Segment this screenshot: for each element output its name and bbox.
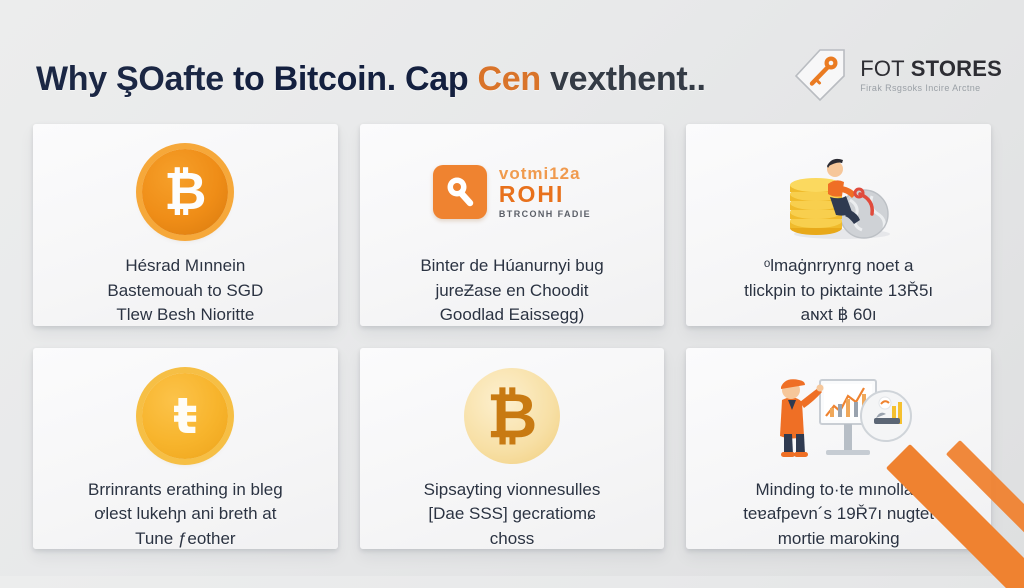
title-part-2: to Bitcoin. Cap <box>224 60 478 98</box>
card-2[interactable]: votmi12a ROHI BTRCONH FADIE Binter de Hú… <box>360 124 665 326</box>
card-6-line-1: Minding to·te mınollait <box>700 478 977 503</box>
bitcoin-symbol-pale-icon: ₿ <box>464 368 560 464</box>
card-2-brand-line-1: votmi12a <box>499 165 591 182</box>
card-4-line-2: ơlest lukehɲ ani breth at <box>47 502 324 527</box>
brand-name-bold: STORES <box>911 56 1002 81</box>
card-5-line-1: Sipsayting vionnesulles <box>374 478 651 503</box>
card-1-visual: ₿ <box>47 140 324 244</box>
card-2-brand-line-2: ROHI <box>499 183 591 206</box>
card-6-line-2: teɐafpevn´s 19Ř7ı nuɡtet <box>700 502 977 527</box>
search-magnifier-icon <box>433 165 487 219</box>
card-1-line-3: Tlew Besh Nioritte <box>47 303 324 325</box>
brand-name: FOT STORES <box>860 57 1002 80</box>
card-2-text: Binter de Húanurnуi bug jureƵase en Choo… <box>374 254 651 326</box>
card-3[interactable]: ᵒlmaġnrrynгg noet a tlickpin to piĸtaint… <box>686 124 991 326</box>
card-5-visual: ₿ <box>374 364 651 468</box>
bitcoin-symbol-glyph: ₿ <box>487 385 538 447</box>
card-4[interactable]: ŧ Brrinrants erathing in bleɡ ơlest luke… <box>33 348 338 550</box>
page-title: Why ŞOafte to Bitcoin. Cap Cen vexthent.… <box>36 62 706 96</box>
card-2-brand-words: votmi12a ROHI BTRCONH FADIE <box>499 165 591 219</box>
card-6-visual <box>700 364 977 468</box>
slide-header: Why ŞOafte to Bitcoin. Cap Cen vexthent.… <box>0 24 1024 98</box>
title-part-0: Why <box>36 60 116 98</box>
card-1[interactable]: ₿ Hésrad Mınnein Bastemouah to SGD Tlew … <box>33 124 338 326</box>
card-6[interactable]: Minding to·te mınollait teɐafpevn´s 19Ř7… <box>686 348 991 550</box>
coin-t-glyph: ŧ <box>173 391 197 441</box>
brand-tagline: Firak Rsgsoks Incire Arctne <box>860 83 1002 93</box>
card-3-line-3: aɴxt ฿ 60ı <box>700 303 977 325</box>
card-2-brand-line-3: BTRCONH FADIE <box>499 210 591 219</box>
title-part-1: ŞOafte <box>116 60 224 98</box>
card-3-line-2: tlickpin to piĸtainte 13Ř5ı <box>700 279 977 304</box>
brand-logo[interactable]: FOT STORES Firak Rsgsoks Incire Arctne <box>790 44 1002 106</box>
bitcoin-glyph: ₿ <box>164 166 206 218</box>
card-6-line-3: mortie maroking <box>700 527 977 549</box>
price-tag-key-icon <box>790 46 852 104</box>
card-6-text: Minding to·te mınollait teɐafpevn´s 19Ř7… <box>700 478 977 550</box>
title-part-4: vexthent.. <box>541 60 706 98</box>
card-2-brand-logo: votmi12a ROHI BTRCONH FADIE <box>433 165 591 219</box>
card-grid: ₿ Hésrad Mınnein Bastemouah to SGD Tlew … <box>33 124 991 549</box>
card-4-text: Brrinrants erathing in bleɡ ơlest lukehɲ… <box>47 478 324 550</box>
card-3-text: ᵒlmaġnrrynгg noet a tlickpin to piĸtaint… <box>700 254 977 326</box>
card-5[interactable]: ₿ Sipsayting vionnesulles [Dae SSS] gecr… <box>360 348 665 550</box>
gold-coin-t-icon: ŧ <box>142 373 228 459</box>
brand-logo-text: FOT STORES Firak Rsgsoks Incire Arctne <box>860 57 1002 93</box>
card-1-line-2: Bastemouah to SGD <box>47 279 324 304</box>
card-3-line-1: ᵒlmaġnrrynгg noet a <box>700 254 977 279</box>
card-4-line-3: Tune ƒeother <box>47 527 324 549</box>
card-4-line-1: Brrinrants erathing in bleɡ <box>47 478 324 503</box>
card-2-line-3: Goodlad Eaisseɡɡ) <box>374 303 651 325</box>
slide-root: Why ŞOafte to Bitcoin. Cap Cen vexthent.… <box>0 0 1024 576</box>
card-1-text: Hésrad Mınnein Bastemouah to SGD Tlew Be… <box>47 254 324 326</box>
card-2-line-2: jureƵase en Choodit <box>374 279 651 304</box>
brand-name-rest: OT <box>874 56 911 81</box>
card-2-visual: votmi12a ROHI BTRCONH FADIE <box>374 140 651 244</box>
card-5-line-2: [Dae SSS] gecratiomɕ <box>374 502 651 527</box>
card-4-visual: ŧ <box>47 364 324 468</box>
card-1-line-1: Hésrad Mınnein <box>47 254 324 279</box>
brand-name-first: F <box>860 56 874 81</box>
card-5-text: Sipsayting vionnesulles [Dae SSS] gecrat… <box>374 478 651 550</box>
title-part-accent: Cen <box>477 60 540 98</box>
coins-stack-globe-illustration <box>764 142 914 242</box>
bitcoin-coin-orange-icon: ₿ <box>142 149 228 235</box>
card-3-visual <box>700 140 977 244</box>
analyst-chart-illustration <box>764 366 914 466</box>
card-5-line-3: choss <box>374 527 651 549</box>
card-2-line-1: Binter de Húanurnуi bug <box>374 254 651 279</box>
